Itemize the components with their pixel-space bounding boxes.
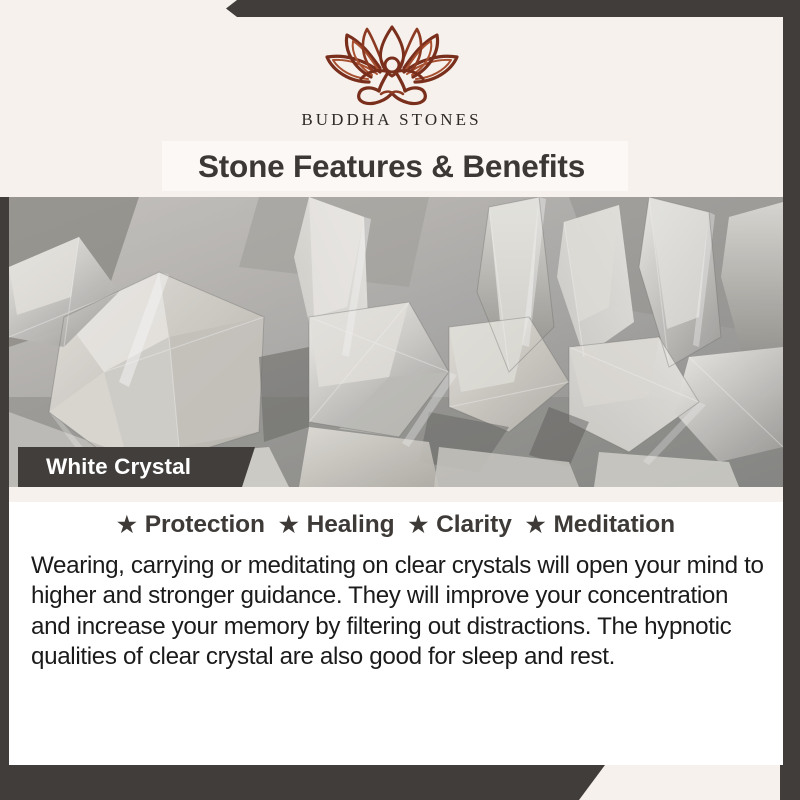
star-icon: ★ — [117, 514, 137, 536]
crystal-photo: White Crystal — [9, 197, 783, 487]
benefit-item-meditation: ★ Meditation — [526, 511, 675, 539]
brand-logo: BUDDHA STONES — [0, 24, 783, 130]
decor-left-bar — [0, 196, 9, 800]
decor-top-bar — [215, 0, 800, 17]
header: BUDDHA STONES Stone Features & Benefits — [0, 0, 783, 197]
lotus-meditation-icon — [317, 24, 467, 106]
benefits-row: ★ Protection ★ Healing ★ Clarity ★ Medit… — [9, 511, 783, 539]
description-paragraph: Wearing, carrying or meditating on clear… — [31, 551, 767, 672]
decor-right-bar — [780, 0, 800, 800]
benefit-label: Meditation — [553, 511, 675, 539]
decor-bottom-bar — [0, 765, 605, 800]
star-icon: ★ — [408, 514, 428, 536]
benefit-label: Healing — [307, 511, 395, 539]
page-title: Stone Features & Benefits — [0, 141, 783, 191]
photo-caption-label: White Crystal — [46, 454, 191, 480]
star-icon: ★ — [279, 514, 299, 536]
content-panel: ★ Protection ★ Healing ★ Clarity ★ Medit… — [9, 487, 783, 765]
brand-wordmark: BUDDHA STONES — [301, 110, 481, 130]
benefit-label: Protection — [145, 511, 265, 539]
benefit-item-clarity: ★ Clarity — [408, 511, 511, 539]
crystal-photo-graphic — [9, 197, 783, 487]
content-top-tint — [9, 487, 783, 502]
benefit-item-healing: ★ Healing — [279, 511, 395, 539]
benefit-item-protection: ★ Protection — [117, 511, 265, 539]
poster-canvas: BUDDHA STONES Stone Features & Benefits — [0, 0, 800, 800]
benefit-label: Clarity — [436, 511, 512, 539]
star-icon: ★ — [526, 514, 546, 536]
photo-caption-tag: White Crystal — [18, 447, 255, 487]
